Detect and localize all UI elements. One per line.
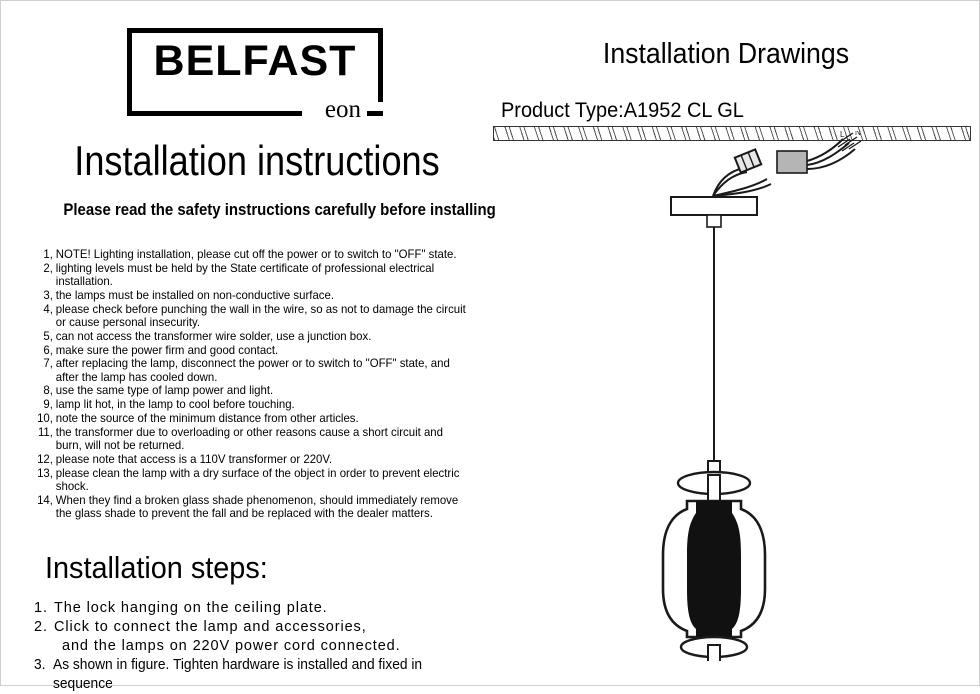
- product-type: Product Type:A1952 CL GL: [501, 99, 744, 122]
- list-item-text: can not access the transformer wire sold…: [56, 330, 472, 343]
- belfast-logo: BELFAST eon: [127, 28, 383, 116]
- upper-stem-lower: [708, 475, 720, 501]
- list-item-text: lighting levels must be held by the Stat…: [56, 262, 472, 289]
- list-item-text: after replacing the lamp, disconnect the…: [56, 357, 472, 384]
- shade-inner-column: [687, 501, 741, 637]
- step-number: 1.: [34, 599, 54, 618]
- list-item-text: please check before punching the wall in…: [56, 303, 472, 330]
- product-type-value: A1952 CL GL: [624, 99, 744, 122]
- drawings-title: Installation Drawings: [510, 39, 942, 71]
- list-item-number: 6,: [33, 344, 56, 357]
- logo-frame-bottom-edge: [127, 111, 302, 116]
- list-item: 3, the lamps must be installed on non-co…: [33, 289, 472, 302]
- list-item-text: please note that access is a 110V transf…: [56, 453, 472, 466]
- list-item-number: 1,: [33, 248, 56, 261]
- terminal-box: [777, 151, 807, 173]
- supply-lead-1: [807, 139, 843, 161]
- ceiling-canopy-plate: [671, 197, 757, 227]
- list-item: 5, can not access the transformer wire s…: [33, 330, 472, 343]
- bottom-finial: [708, 645, 720, 661]
- brand-sub-name: eon: [325, 97, 361, 122]
- step-continuation-text: and the lamps on 220V power cord connect…: [34, 637, 504, 656]
- list-item: 9, lamp lit hot, in the lamp to cool bef…: [33, 398, 472, 411]
- list-item-text: please clean the lamp with a dry surface…: [56, 467, 472, 494]
- list-item-number: 11,: [33, 426, 56, 439]
- step-item: 3. As shown in figure. Tighten hardware …: [34, 656, 481, 694]
- step-number: 2.: [34, 618, 54, 637]
- ceiling-wiring-detail: L N: [713, 131, 861, 196]
- drawings-column: Installation Drawings Product Type:A1952…: [491, 1, 980, 685]
- list-item: 2, lighting levels must be held by the S…: [33, 262, 472, 289]
- list-item: 4, please check before punching the wall…: [33, 303, 472, 330]
- list-item-text: use the same type of lamp power and ligh…: [56, 384, 472, 397]
- page-title: Installation instructions: [68, 139, 446, 183]
- step-text: As shown in figure. Tighten hardware is …: [53, 656, 481, 694]
- list-item-text: lamp lit hot, in the lamp to cool before…: [56, 398, 472, 411]
- list-item-text: make sure the power firm and good contac…: [56, 344, 472, 357]
- step-item: 2. Click to connect the lamp and accesso…: [34, 618, 504, 637]
- list-item-text: When they find a broken glass shade phen…: [56, 494, 472, 521]
- list-item-number: 5,: [33, 330, 56, 343]
- installation-steps-list: 1. The lock hanging on the ceiling plate…: [34, 599, 504, 694]
- instructions-column: BELFAST eon Installation instructions Pl…: [1, 1, 509, 685]
- list-item: 14, When they find a broken glass shade …: [33, 494, 472, 521]
- supply-lead-2: [807, 143, 849, 165]
- wire-label-neutral: N: [855, 131, 861, 137]
- installation-steps-title: Installation steps:: [45, 551, 268, 585]
- step-number: 3.: [34, 656, 53, 675]
- list-item-text: the lamps must be installed on non-condu…: [56, 289, 472, 302]
- brand-name: BELFAST: [127, 40, 383, 83]
- list-item-number: 2,: [33, 262, 56, 275]
- list-item: 1, NOTE! Lighting installation, please c…: [33, 248, 472, 261]
- list-item: 10, note the source of the minimum dista…: [33, 412, 472, 425]
- pendant-lamp-fixture: [663, 461, 765, 661]
- list-item: 12, please note that access is a 110V tr…: [33, 453, 472, 466]
- list-item-number: 3,: [33, 289, 56, 302]
- list-item-text: the transformer due to overloading or ot…: [56, 426, 472, 453]
- wire-connector-block: [735, 149, 761, 172]
- canopy-connector: [707, 215, 721, 227]
- list-item-number: 14,: [33, 494, 56, 507]
- list-item: 13, please clean the lamp with a dry sur…: [33, 467, 472, 494]
- logo-frame-bottom-right-stub: [367, 111, 383, 116]
- list-item-text: note the source of the minimum distance …: [56, 412, 472, 425]
- list-item-number: 7,: [33, 357, 56, 370]
- list-item-number: 8,: [33, 384, 56, 397]
- list-item: 11, the transformer due to overloading o…: [33, 426, 472, 453]
- step-item: 1. The lock hanging on the ceiling plate…: [34, 599, 504, 618]
- safety-instructions-list: 1, NOTE! Lighting installation, please c…: [33, 248, 495, 521]
- pendant-lamp-drawing: L N: [491, 131, 980, 661]
- product-type-label: Product Type:: [501, 99, 624, 122]
- installation-instruction-sheet: BELFAST eon Installation instructions Pl…: [0, 0, 980, 686]
- list-item-number: 9,: [33, 398, 56, 411]
- list-item-number: 13,: [33, 467, 56, 480]
- logo-frame-top-edge: [127, 28, 383, 33]
- list-item-number: 4,: [33, 303, 56, 316]
- wire-label-live: L: [840, 131, 845, 139]
- list-item: 8, use the same type of lamp power and l…: [33, 384, 472, 397]
- list-item-number: 10,: [33, 412, 56, 425]
- step-text: The lock hanging on the ceiling plate.: [54, 599, 504, 618]
- list-item-text: NOTE! Lighting installation, please cut …: [56, 248, 472, 261]
- list-item: 7, after replacing the lamp, disconnect …: [33, 357, 472, 384]
- list-item: 6, make sure the power firm and good con…: [33, 344, 472, 357]
- list-item-number: 12,: [33, 453, 56, 466]
- page-subtitle: Please read the safety instructions care…: [63, 200, 450, 220]
- step-text: Click to connect the lamp and accessorie…: [54, 618, 504, 637]
